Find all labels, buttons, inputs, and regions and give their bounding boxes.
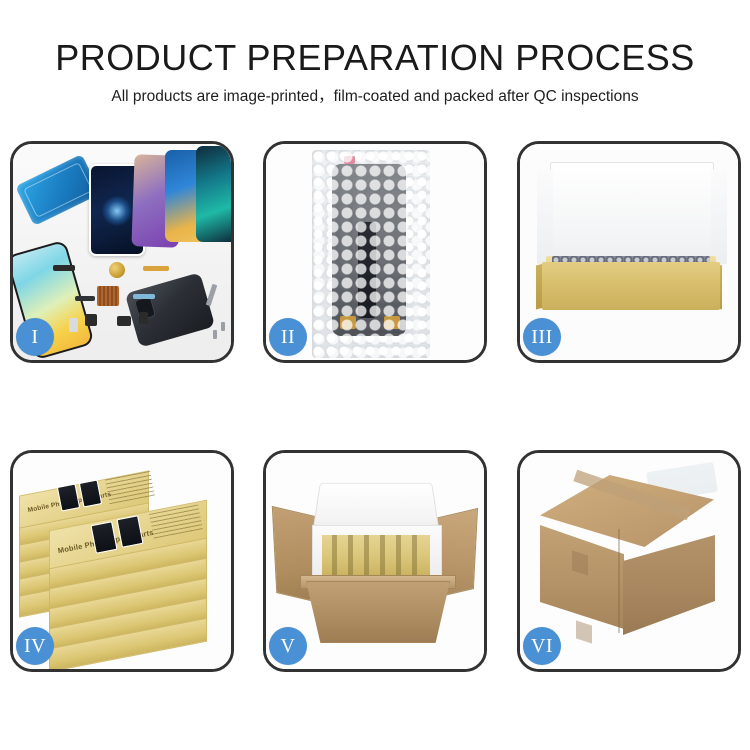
- phone-screen-teal: [196, 146, 231, 242]
- screw-1: [213, 330, 217, 339]
- camera-module: [85, 314, 97, 326]
- carton-tab-lower: [576, 620, 592, 643]
- speaker-module: [53, 265, 75, 271]
- button-part: [117, 316, 131, 326]
- phone-rear-housing: [125, 272, 215, 347]
- step-card-2[interactable]: II: [263, 141, 487, 363]
- box-front-layer-6: [49, 633, 205, 655]
- product-preparation-process-page: PRODUCT PREPARATION PROCESS All products…: [0, 0, 750, 750]
- chip-grid-part: [97, 286, 119, 306]
- step-badge-3: III: [523, 318, 561, 356]
- sim-tray: [69, 318, 78, 332]
- flex-cable-1: [143, 266, 169, 271]
- screw-2: [221, 322, 225, 331]
- header: PRODUCT PREPARATION PROCESS All products…: [0, 0, 750, 106]
- wireless-charging-coil: [109, 262, 125, 278]
- flex-cable-3: [75, 296, 95, 301]
- step-card-3[interactable]: III: [517, 141, 741, 363]
- step-card-4[interactable]: Mobile Phone Spare Parts: [10, 450, 234, 672]
- vibration-motor: [139, 312, 148, 324]
- carton-body: [306, 581, 450, 643]
- box-tray-front: [542, 262, 720, 310]
- step-badge-6: VI: [523, 627, 561, 665]
- carton-right-face: [623, 535, 715, 635]
- stylus-tool: [206, 284, 218, 306]
- step-card-5[interactable]: V: [263, 450, 487, 672]
- page-subtitle: All products are image-printed，film-coat…: [0, 78, 750, 106]
- boxes-inside-carton: [322, 535, 430, 575]
- step-card-6[interactable]: VI: [517, 450, 741, 672]
- step-badge-1: I: [16, 318, 54, 356]
- step-badge-2: II: [269, 318, 307, 356]
- flex-cable-2: [133, 294, 155, 299]
- carton-left-face: [540, 525, 624, 629]
- process-steps-grid: I II: [10, 141, 740, 672]
- step-badge-5: V: [269, 627, 307, 665]
- bubble-wrap-overlay: [312, 150, 430, 358]
- step-card-1[interactable]: I: [10, 141, 234, 363]
- page-title: PRODUCT PREPARATION PROCESS: [0, 0, 750, 78]
- step-badge-4: IV: [16, 627, 54, 665]
- carton-corner-seam: [618, 529, 620, 633]
